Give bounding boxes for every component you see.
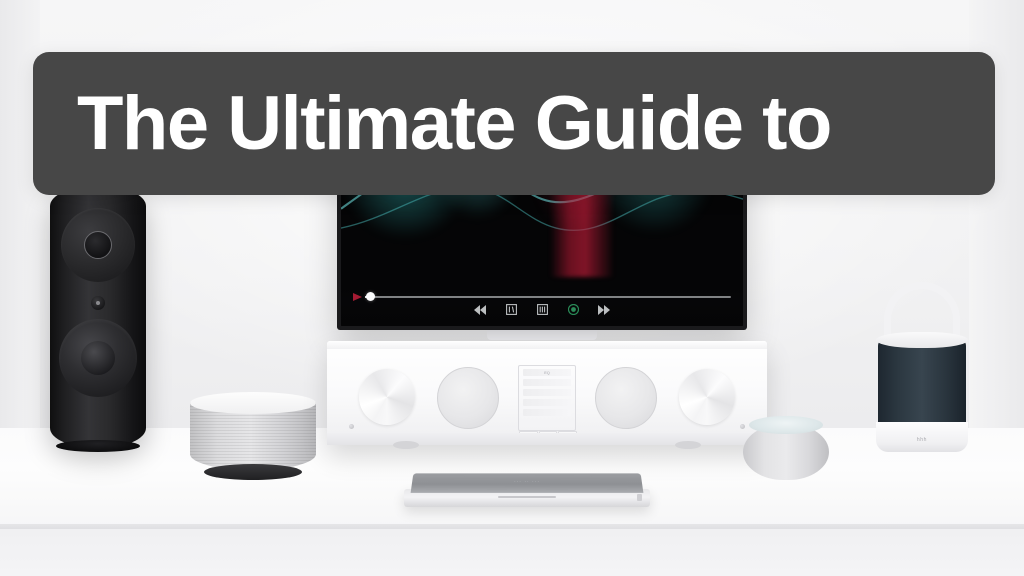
scrubber-handle[interactable]	[366, 292, 375, 301]
midrange-driver	[91, 296, 105, 310]
source-knob[interactable]	[679, 369, 735, 425]
flat-remote-device[interactable]: ··· ·· ···	[404, 473, 650, 509]
table-front-face	[0, 529, 1024, 576]
remote-top-surface[interactable]: ··· ·· ···	[411, 473, 644, 492]
rewind-icon[interactable]	[472, 303, 488, 316]
scene-root: now playing	[0, 0, 1024, 576]
display-row-4	[523, 409, 571, 416]
page-title: The Ultimate Guide to	[77, 86, 831, 162]
transport-controls[interactable]	[341, 303, 743, 316]
cylinder-foot	[204, 464, 302, 480]
soundbar-foot-left	[393, 441, 419, 449]
volume-knob-face[interactable]	[359, 369, 415, 425]
marker-right-icon[interactable]	[534, 303, 550, 316]
power-led-left	[349, 424, 354, 429]
media-player-bar[interactable]	[341, 286, 743, 326]
headline-banner: The Ultimate Guide to	[33, 52, 995, 195]
speaker-grille-left	[437, 367, 499, 429]
soundbar-top-lip	[327, 341, 767, 349]
puck-top-surface[interactable]	[749, 416, 823, 434]
volume-knob[interactable]	[359, 369, 415, 425]
soundbar-foot-right	[675, 441, 701, 449]
lantern-base: hhh	[876, 422, 968, 452]
scrubber-track[interactable]	[365, 296, 731, 298]
soundbar-receiver[interactable]: EQ	[327, 341, 767, 445]
marker-left-icon[interactable]	[503, 303, 519, 316]
display-row-1	[523, 379, 571, 386]
cylinder-top-surface[interactable]	[190, 392, 316, 414]
source-knob-face[interactable]	[679, 369, 735, 425]
tweeter-driver	[61, 208, 135, 282]
remote-label: ··· ·· ···	[514, 479, 540, 485]
tv-stand	[487, 330, 597, 340]
tower-speaker-base	[56, 440, 140, 452]
remote-port	[637, 494, 642, 501]
lantern-brand-label: hhh	[876, 437, 968, 443]
progress-scrubber[interactable]	[349, 292, 735, 302]
woofer-driver	[59, 319, 137, 397]
remote-slot	[498, 496, 556, 498]
mini-smart-speaker[interactable]	[743, 416, 829, 480]
fast-forward-icon[interactable]	[596, 303, 612, 316]
tower-speaker-left[interactable]	[50, 186, 146, 448]
display-row-3	[523, 399, 571, 406]
record-dot-icon[interactable]	[565, 303, 581, 316]
portable-lantern-speaker[interactable]: hhh	[872, 282, 972, 452]
lantern-top-cap	[876, 332, 968, 348]
display-row-0: EQ	[523, 369, 571, 376]
display-row-2	[523, 389, 571, 396]
soundbar-display-panel[interactable]: EQ	[518, 365, 576, 431]
fabric-cylinder-speaker[interactable]	[190, 392, 316, 480]
record-icon	[353, 293, 362, 301]
speaker-grille-right	[595, 367, 657, 429]
